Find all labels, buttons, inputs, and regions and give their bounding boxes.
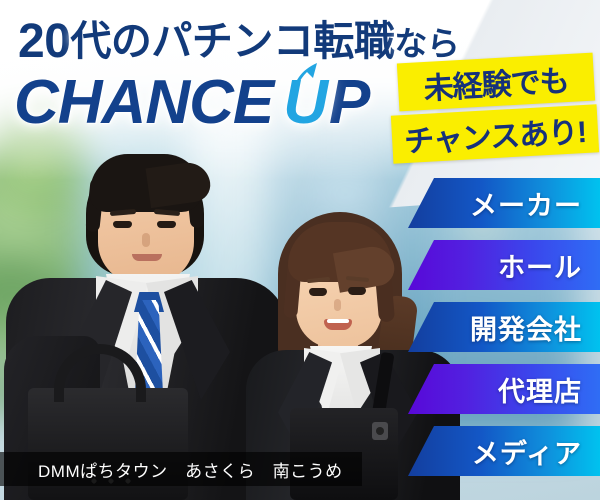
logo-letter-u-wrap: U — [283, 72, 327, 134]
logo-chance-up: CHANCEUP — [14, 72, 369, 134]
category-agency-label: 代理店 — [498, 370, 582, 409]
category-agency[interactable]: 代理店 — [408, 364, 600, 414]
caption-bar: DMMぱちタウン あさくら 南こうめ — [0, 452, 362, 486]
logo-word-chance: CHANCE — [14, 68, 273, 137]
headline-number: 20 — [18, 15, 70, 68]
caption-text: DMMぱちタウン あさくら 南こうめ — [38, 457, 343, 482]
photo-subjects — [0, 140, 430, 500]
category-hall[interactable]: ホール — [408, 240, 600, 290]
badge-chance-available-label: チャンスあり! — [403, 107, 587, 161]
category-hall-label: ホール — [498, 246, 582, 285]
headline-suffix: なら — [394, 25, 459, 62]
category-list: メーカー ホール 開発会社 代理店 メディア — [408, 178, 600, 488]
recruitment-banner[interactable]: 20代のパチンコ転職なら CHANCEUP 未経験でも チャンスあり! メーカー… — [0, 0, 600, 500]
category-media[interactable]: メディア — [408, 426, 600, 476]
logo-letter-u: U — [283, 68, 327, 137]
logo-letter-p: P — [329, 68, 369, 137]
category-developer-label: 開発会社 — [470, 308, 582, 347]
category-maker[interactable]: メーカー — [408, 178, 600, 228]
category-maker-label: メーカー — [470, 184, 582, 223]
category-developer[interactable]: 開発会社 — [408, 302, 600, 352]
headline: 20代のパチンコ転職なら — [18, 18, 459, 66]
man-hair — [90, 154, 202, 212]
badge-no-experience-label: 未経験でも — [422, 56, 569, 108]
headline-main: 代のパチンコ転職 — [70, 18, 394, 64]
category-media-label: メディア — [472, 432, 582, 471]
